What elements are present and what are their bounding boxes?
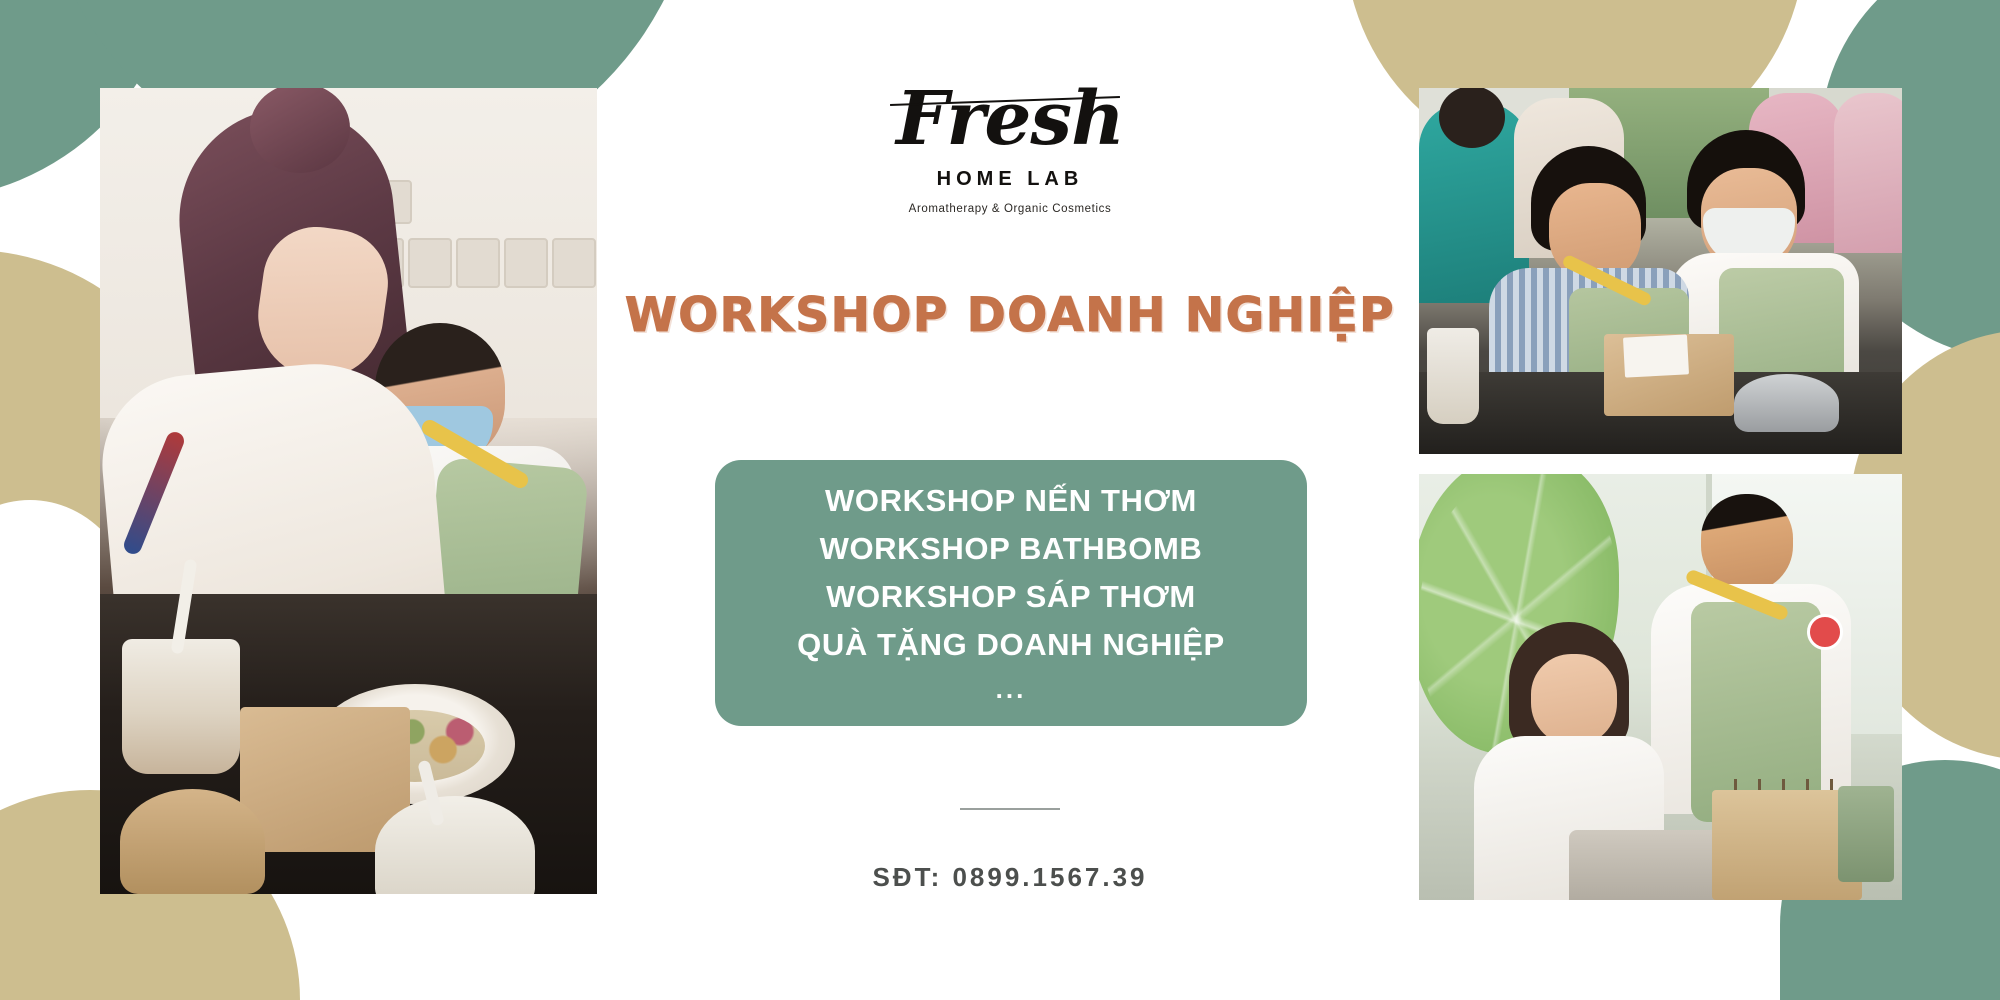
poster-canvas: Fresh HOME LAB Aromatherapy & Organic Co…: [0, 0, 2000, 1000]
workshop-gift-photo: [1419, 474, 1902, 900]
services-card: WORKSHOP NẾN THƠM WORKSHOP BATHBOMB WORK…: [715, 460, 1307, 726]
service-item-more: ...: [996, 669, 1027, 709]
service-item-2: WORKSHOP SÁP THƠM: [826, 573, 1196, 621]
center-content-column: Fresh HOME LAB Aromatherapy & Organic Co…: [620, 0, 1400, 1000]
divider: [960, 808, 1060, 810]
service-item-3: QUÀ TẶNG DOANH NGHIỆP: [797, 621, 1225, 669]
service-item-0: WORKSHOP NẾN THƠM: [825, 477, 1197, 525]
service-item-1: WORKSHOP BATHBOMB: [820, 525, 1203, 573]
page-title: WORKSHOP DOANH NGHIỆP: [620, 288, 1400, 343]
logo-tagline: Aromatherapy & Organic Cosmetics: [820, 203, 1200, 215]
logo-script-text: Fresh: [896, 82, 1124, 156]
logo-name: HOME LAB: [820, 168, 1200, 191]
workshop-group-photo: [1419, 88, 1902, 454]
brand-logo: Fresh HOME LAB Aromatherapy & Organic Co…: [820, 82, 1200, 215]
contact-phone: SĐT: 0899.1567.39: [620, 862, 1400, 893]
workshop-main-photo: [100, 88, 597, 894]
